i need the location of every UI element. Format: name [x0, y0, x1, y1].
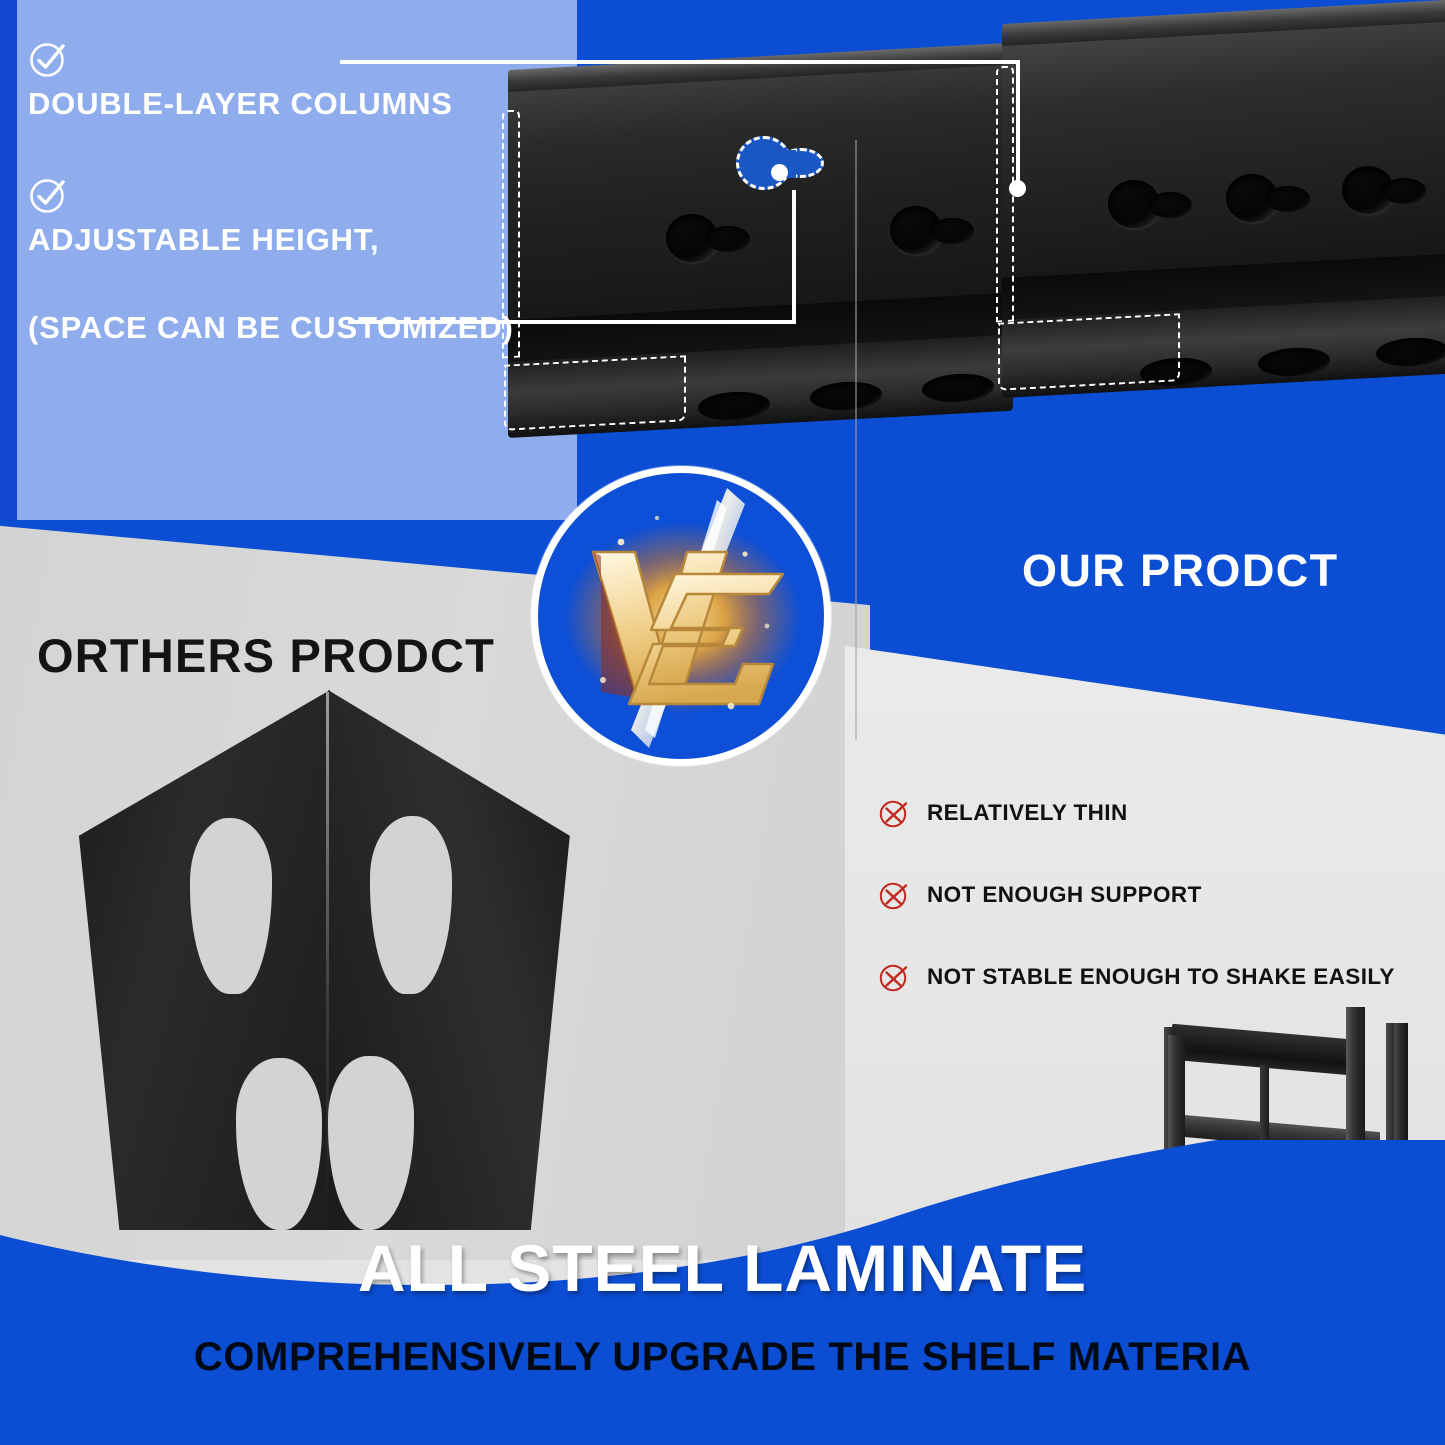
feature-item	[28, 174, 548, 216]
feature-item	[28, 38, 548, 80]
callout-line-slot-vertical	[792, 190, 796, 324]
con-label-not-enough-support: NOT ENOUGH SUPPORT	[927, 882, 1202, 908]
banner-title: ALL STEEL LAMINATE	[0, 1230, 1445, 1306]
double-layer-base-annotation	[998, 313, 1180, 391]
steel-beam-right	[990, 14, 1445, 484]
our-product-title: OUR PRODCT	[1022, 545, 1339, 597]
keyhole-slot	[1342, 164, 1428, 216]
double-layer-base-annotation	[504, 355, 686, 431]
others-product-title: ORTHERS PRODCT	[37, 628, 495, 683]
beam-web-face	[1002, 21, 1445, 282]
feature-label-adjustable-height: ADJUSTABLE HEIGHT,	[28, 222, 379, 258]
banner-subtitle: COMPREHENSIVELY UPGRADE THE SHELF MATERI…	[0, 1335, 1445, 1380]
feature-list: DOUBLE-LAYER COLUMNS ADJUSTABLE HEIGHT, …	[28, 38, 548, 346]
check-circle-icon	[28, 38, 70, 80]
check-circle-icon	[28, 174, 70, 216]
x-circle-icon	[878, 962, 909, 993]
infographic-canvas: DOUBLE-LAYER COLUMNS ADJUSTABLE HEIGHT, …	[0, 0, 1445, 1445]
feature-label-double-layer: DOUBLE-LAYER COLUMNS	[28, 86, 453, 122]
highlighted-slot-annotation	[736, 132, 826, 194]
feature-item-label-row: DOUBLE-LAYER COLUMNS	[28, 86, 548, 122]
beam-web-face	[508, 65, 1013, 324]
keyhole-slot	[1226, 172, 1312, 224]
callout-endpoint-dot-upper	[1009, 180, 1026, 197]
keyhole-slot	[890, 204, 976, 256]
keyhole-slot	[666, 212, 752, 264]
feature-item-label-row: (SPACE CAN BE CUSTOMIZED)	[28, 310, 548, 346]
callout-line-upper-vertical	[1016, 60, 1020, 188]
con-item: NOT ENOUGH SUPPORT	[878, 854, 1378, 936]
x-circle-icon	[878, 798, 909, 829]
panel-divider	[855, 140, 857, 740]
vs-badge-artwork	[531, 466, 831, 766]
con-item: RELATIVELY THIN	[878, 772, 1378, 854]
keyhole-slot	[1108, 178, 1194, 230]
vs-badge: VS	[531, 466, 831, 766]
con-label-relatively-thin: RELATIVELY THIN	[927, 800, 1128, 826]
bottom-banner: ALL STEEL LAMINATE COMPREHENSIVELY UPGRA…	[0, 1140, 1445, 1445]
feature-label-space-customized: (SPACE CAN BE CUSTOMIZED)	[28, 310, 514, 346]
x-circle-icon	[878, 880, 909, 911]
steel-column-photo	[498, 62, 1445, 482]
left-accent-strip	[0, 0, 17, 540]
feature-item-label-row: ADJUSTABLE HEIGHT,	[28, 222, 548, 258]
steel-beam-left	[498, 62, 1018, 482]
